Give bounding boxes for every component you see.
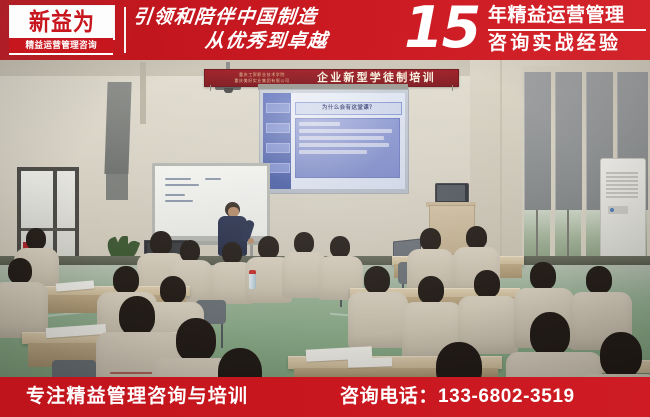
student-head bbox=[176, 318, 216, 362]
whiteboard-writing bbox=[165, 194, 185, 196]
banner-title: 企业新型学徒制培训 bbox=[317, 71, 436, 85]
projection-screen: 为什么会有这堂课？ bbox=[259, 89, 409, 194]
window-mullion bbox=[567, 210, 569, 260]
air-conditioner-led bbox=[610, 208, 614, 212]
student-head bbox=[180, 240, 200, 262]
slide-body bbox=[295, 118, 400, 178]
slide-tab-2 bbox=[266, 143, 290, 153]
logo-main-text: 新益为 bbox=[29, 10, 95, 34]
slogan-line-1: 引领和陪伴中国制造 bbox=[132, 6, 319, 28]
slide-tab-0 bbox=[266, 103, 290, 113]
slide-body-line bbox=[299, 150, 367, 154]
student-body bbox=[0, 282, 48, 338]
years-line-2: 咨询实战经验 bbox=[488, 33, 621, 55]
student-head bbox=[364, 266, 390, 294]
student-head bbox=[530, 312, 570, 356]
student-head bbox=[119, 296, 155, 336]
student-head bbox=[586, 266, 612, 294]
experience-block: 15 年精益运营管理 咨询实战经验 bbox=[404, 1, 646, 59]
air-conditioner-vent bbox=[606, 172, 638, 198]
banner-hook-left bbox=[210, 85, 211, 91]
wall-pipe bbox=[140, 62, 146, 124]
logo-underline bbox=[9, 53, 113, 55]
chair bbox=[52, 360, 96, 377]
student-head bbox=[113, 266, 139, 294]
logo-sub-bar: 精益运营管理咨询 bbox=[9, 38, 113, 53]
student-head bbox=[420, 228, 441, 251]
brand-logo[interactable]: 新益为 精益运营管理咨询 bbox=[9, 5, 113, 54]
student-head bbox=[330, 236, 350, 258]
banner-org-line-2: 重庆美好实业集团有限公司 bbox=[210, 78, 314, 84]
wall-panel-dark-lower bbox=[106, 174, 128, 200]
chair-leg bbox=[221, 324, 223, 348]
student-head bbox=[26, 228, 46, 250]
podium-monitor-screen bbox=[437, 185, 465, 201]
header-divider bbox=[124, 7, 126, 53]
whiteboard-writing bbox=[205, 178, 221, 180]
presentation-slide: 为什么会有这堂课？ bbox=[263, 93, 405, 189]
student-head bbox=[222, 242, 242, 264]
whiteboard-writing bbox=[165, 178, 191, 180]
header-slogan: 引领和陪伴中国制造 从优秀到卓越 bbox=[133, 5, 388, 55]
logo-mark-box: 新益为 bbox=[9, 5, 115, 40]
student-head bbox=[530, 262, 556, 290]
window-blind bbox=[524, 72, 551, 210]
classroom-photo: 重庆工贸职业技术学院 重庆美好实业集团有限公司 企业新型学徒制培训 为什么会有这… bbox=[0, 60, 650, 377]
slide-body-line bbox=[299, 143, 389, 147]
years-number: 15 bbox=[404, 0, 479, 57]
slide-tab-1 bbox=[266, 123, 290, 133]
student-head bbox=[418, 276, 444, 304]
footer-bar: 专注精益管理咨询与培训 咨询电话：133-6802-3519 bbox=[0, 377, 650, 417]
promo-banner-image: 新益为 精益运营管理咨询 引领和陪伴中国制造 从优秀到卓越 15 年精益运营管理… bbox=[0, 0, 650, 417]
water-bottle bbox=[249, 273, 256, 289]
window-mullion bbox=[536, 210, 538, 260]
banner-hook-right bbox=[452, 85, 453, 91]
slide-body-line bbox=[299, 122, 340, 126]
student-head bbox=[466, 226, 487, 249]
slide-body-line bbox=[299, 129, 392, 133]
slogan-line-2: 从优秀到卓越 bbox=[204, 30, 329, 52]
footer-tagline: 专注精益管理咨询与培训 bbox=[26, 385, 248, 409]
student-head bbox=[258, 236, 279, 259]
wall-seam bbox=[500, 60, 502, 260]
whiteboard-writing bbox=[165, 184, 199, 186]
banner-org-names: 重庆工贸职业技术学院 重庆美好实业集团有限公司 bbox=[210, 71, 314, 84]
years-line-1: 年精益运营管理 bbox=[488, 5, 625, 27]
footer-phone[interactable]: 咨询电话：133-6802-3519 bbox=[340, 385, 575, 409]
student-head bbox=[8, 258, 32, 284]
slide-title: 为什么会有这堂课？ bbox=[295, 102, 402, 115]
whiteboard-writing bbox=[165, 200, 193, 202]
student-head bbox=[600, 332, 642, 377]
handout-paper bbox=[348, 357, 392, 368]
header-bar: 新益为 精益运营管理咨询 引领和陪伴中国制造 从优秀到卓越 15 年精益运营管理… bbox=[0, 0, 650, 60]
student-head bbox=[474, 270, 500, 298]
logo-sub-text: 精益运营管理咨询 bbox=[25, 41, 96, 50]
wall-panel-dark bbox=[104, 82, 131, 174]
slide-body-line bbox=[299, 136, 384, 140]
bottle-cap bbox=[249, 270, 256, 274]
student-head bbox=[150, 231, 172, 255]
student-head bbox=[160, 276, 186, 304]
years-separator bbox=[488, 29, 646, 31]
student-body bbox=[348, 292, 408, 348]
window-blind bbox=[555, 72, 582, 210]
presenter-hand bbox=[248, 238, 254, 244]
student-head bbox=[294, 232, 314, 254]
